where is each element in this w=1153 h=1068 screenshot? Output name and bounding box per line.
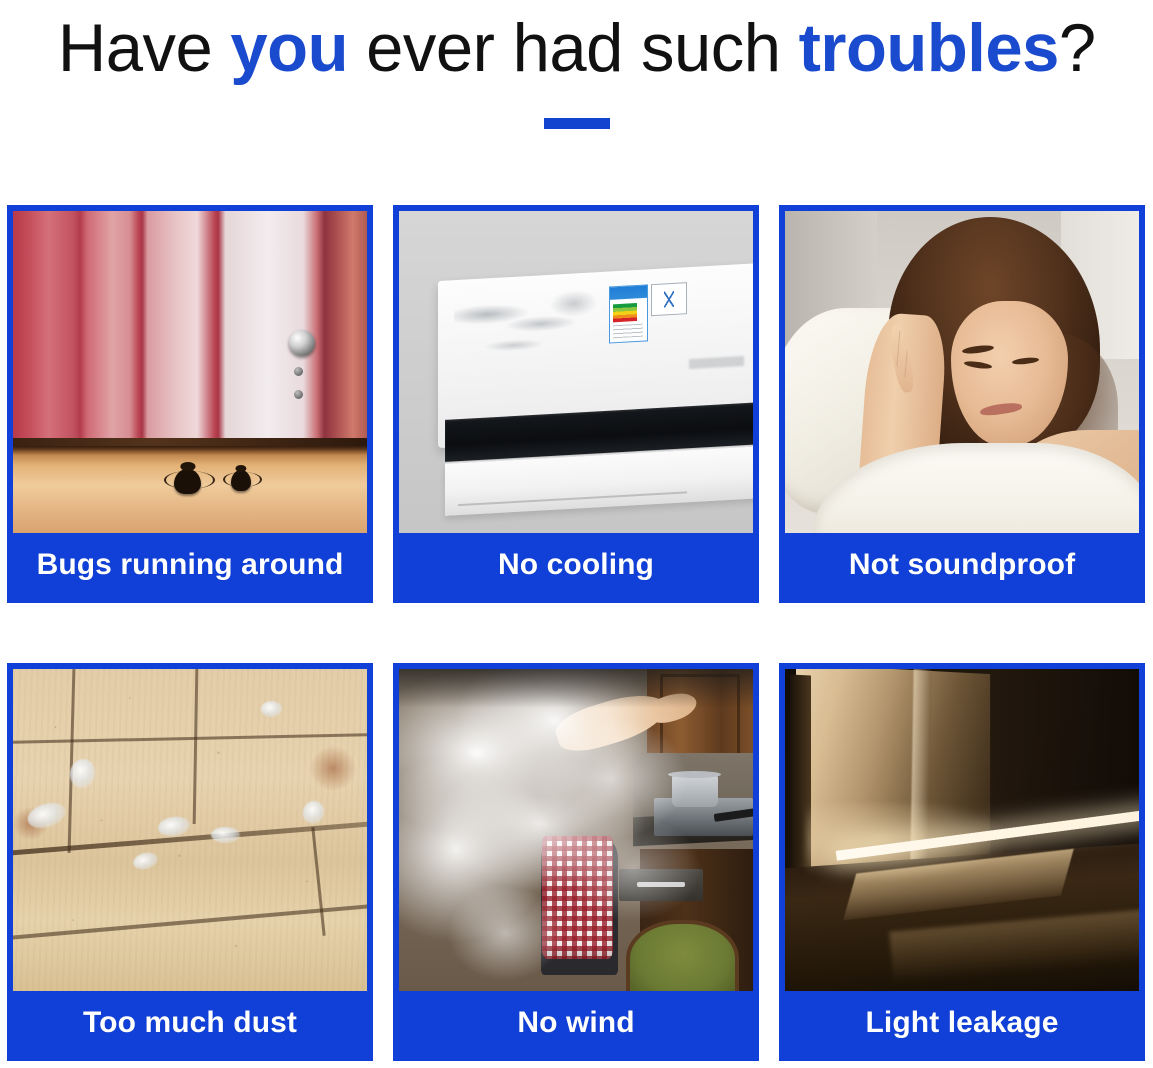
ac-floral-pattern [454,285,604,370]
bug-icon-large [174,469,201,494]
air-conditioner-illustration [399,211,753,533]
energy-rating-bars [613,303,637,323]
woman-covering-ears-illustration [785,211,1139,533]
card-caption-light-leakage: Light leakage [785,991,1139,1055]
ac-brand-text [689,356,744,369]
card-caption-dust: Too much dust [13,991,367,1055]
card-photo-dust [13,669,367,991]
doorknob-icon [289,330,315,356]
trouble-card-no-cooling[interactable]: No cooling [393,205,759,603]
headline-container: Have you ever had such troubles? [0,0,1153,96]
card-photo-no-wind [399,669,753,991]
door-lock-upper [294,367,303,376]
smoke-dark-ceiling [399,669,753,708]
door-bugs-illustration [13,211,367,533]
bug-icon-small [231,470,251,491]
card-caption-not-soundproof: Not soundproof [785,533,1139,597]
divider-container [0,112,1153,134]
headline-emphasis-you: you [230,10,348,86]
card-photo-no-cooling [399,211,753,533]
headline-part-3: ? [1059,10,1096,86]
trouble-card-not-soundproof[interactable]: Not soundproof [779,205,1145,603]
energy-label-sticker [609,285,648,344]
card-caption-no-cooling: No cooling [399,533,753,597]
card-caption-bugs: Bugs running around [13,533,367,597]
trouble-card-dust[interactable]: Too much dust [7,663,373,1061]
card-photo-bugs [13,211,367,533]
door-threshold [13,438,367,446]
light-under-door-illustration [785,669,1139,991]
headline-part-1: Have [58,10,231,86]
door-lock-lower [294,390,303,399]
headline-part-2: ever had such [348,10,799,86]
page-title: Have you ever had such troubles? [58,14,1096,82]
kitchen-drawer [619,869,704,901]
trouble-card-light-leakage[interactable]: Light leakage [779,663,1145,1061]
hand-covering-ear [887,324,916,394]
energy-label-text-lines [613,324,643,339]
cooking-pot [672,775,718,807]
checkered-apron [542,836,613,958]
section-divider-bar [544,118,610,129]
headline-emphasis-troubles: troubles [798,10,1058,86]
card-caption-no-wind: No wind [399,991,753,1055]
card-photo-not-soundproof [785,211,1139,533]
trouble-card-grid: Bugs running around No cooling [7,205,1146,1061]
trouble-card-no-wind[interactable]: No wind [393,663,759,1061]
card-photo-light-leakage [785,669,1139,991]
trouble-card-bugs[interactable]: Bugs running around [7,205,373,603]
dusty-floor-illustration [13,669,367,991]
certification-sticker [651,282,687,316]
smoky-kitchen-illustration [399,669,753,991]
dust-clump-4 [211,827,239,843]
green-chair [626,920,739,991]
